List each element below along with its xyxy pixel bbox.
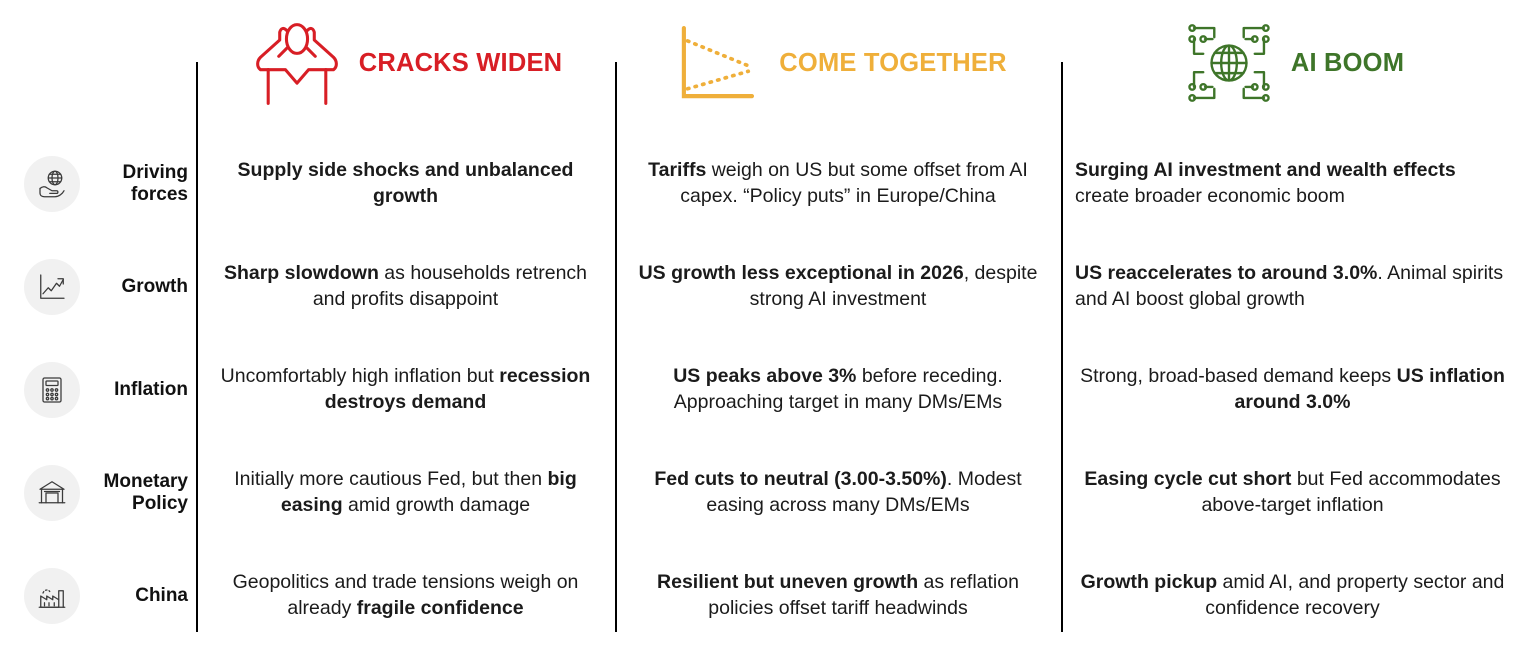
row-label-monetary-policy: Monetary Policy (0, 449, 196, 537)
scenario-header-label: COME TOGETHER (779, 49, 1006, 78)
line-chart-up-icon (24, 259, 80, 315)
cell-growth-come-together: US growth less exceptional in 2026, desp… (615, 243, 1061, 331)
cell-inflation-ai-boom: Strong, broad-based demand keeps US infl… (1061, 346, 1524, 434)
scenario-header-come-together[interactable]: COME TOGETHER (615, 8, 1061, 118)
cell-monetary-policy-cracks-widen: Initially more cautious Fed, but then bi… (196, 449, 615, 537)
row-label-text: Growth (90, 276, 196, 298)
row-label-text: China (90, 585, 196, 607)
row-label-text: Inflation (90, 379, 196, 401)
scenario-header-label: CRACKS WIDEN (359, 49, 563, 78)
scenario-header-row: CRACKS WIDEN COME TOGETHER (0, 0, 1524, 125)
stressed-person-icon (249, 15, 345, 111)
cell-growth-cracks-widen: Sharp slowdown as households retrench an… (196, 243, 615, 331)
converging-lines-chart-icon (669, 15, 765, 111)
factory-icon (24, 568, 80, 624)
row-label-inflation: Inflation (0, 346, 196, 434)
cell-inflation-cracks-widen: Uncomfortably high inflation but recessi… (196, 346, 615, 434)
scenario-header-cracks-widen[interactable]: CRACKS WIDEN (196, 8, 615, 118)
cell-driving-forces-ai-boom: Surging AI investment and wealth effects… (1061, 140, 1524, 228)
scenario-matrix: CRACKS WIDEN COME TOGETHER (0, 0, 1524, 654)
row-label-text: Driving forces (90, 162, 196, 207)
central-bank-icon (24, 465, 80, 521)
globe-circuit-icon (1181, 15, 1277, 111)
scenario-header-label: AI BOOM (1291, 49, 1404, 78)
scenario-header-ai-boom[interactable]: AI BOOM (1061, 8, 1524, 118)
cell-china-come-together: Resilient but uneven growth as reflation… (615, 552, 1061, 640)
globe-in-hand-icon (24, 156, 80, 212)
row-label-driving-forces: Driving forces (0, 140, 196, 228)
cell-china-cracks-widen: Geopolitics and trade tensions weigh on … (196, 552, 615, 640)
row-label-text: Monetary Policy (90, 471, 196, 516)
cell-driving-forces-cracks-widen: Supply side shocks and unbalanced growth (196, 140, 615, 228)
cell-monetary-policy-come-together: Fed cuts to neutral (3.00-3.50%). Modest… (615, 449, 1061, 537)
cell-inflation-come-together: US peaks above 3% before receding. Appro… (615, 346, 1061, 434)
row-label-growth: Growth (0, 243, 196, 331)
cell-growth-ai-boom: US reaccelerates to around 3.0%. Animal … (1061, 243, 1524, 331)
calculator-icon (24, 362, 80, 418)
cell-china-ai-boom: Growth pickup amid AI, and property sect… (1061, 552, 1524, 640)
row-label-china: China (0, 552, 196, 640)
cell-driving-forces-come-together: Tariffs weigh on US but some offset from… (615, 140, 1061, 228)
cell-monetary-policy-ai-boom: Easing cycle cut short but Fed accommoda… (1061, 449, 1524, 537)
